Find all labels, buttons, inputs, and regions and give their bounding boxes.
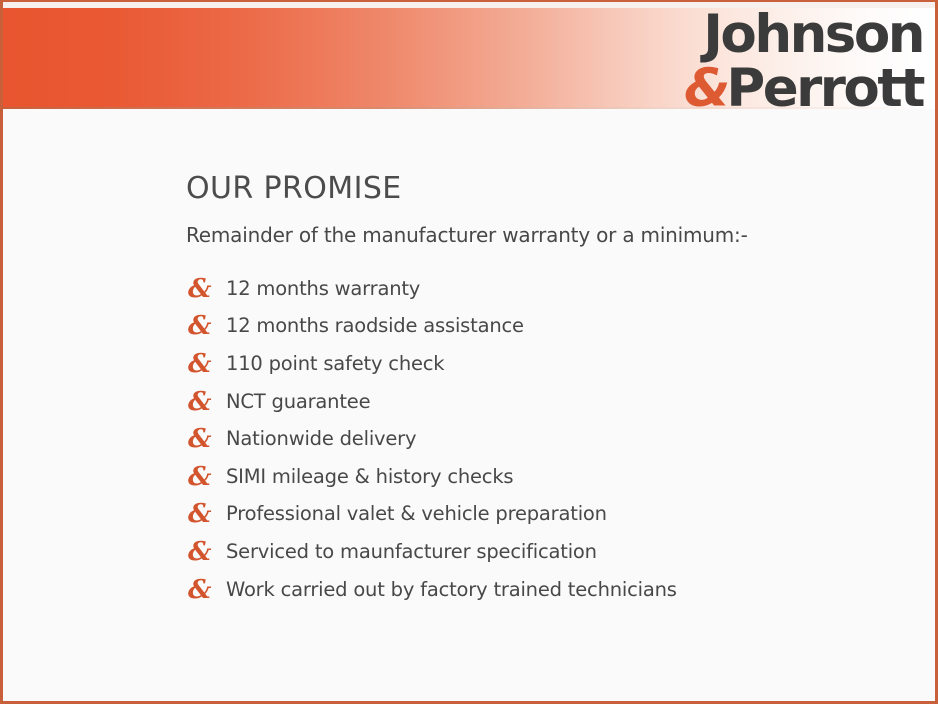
ampersand-icon: &	[186, 276, 226, 302]
list-item-label: Serviced to maunfacturer specification	[226, 540, 597, 564]
ampersand-icon: &	[186, 501, 226, 527]
johnson-and-perrott-logo[interactable]: Johnson &Perrott	[684, 8, 923, 115]
ampersand-icon: &	[186, 539, 226, 565]
list-item: & Work carried out by factory trained te…	[186, 571, 886, 609]
logo-ampersand-icon: &	[684, 58, 726, 119]
promise-content: OUR PROMISE Remainder of the manufacture…	[186, 172, 886, 608]
list-item-label: Professional valet & vehicle preparation	[226, 502, 607, 526]
promise-subtitle: Remainder of the manufacturer warranty o…	[186, 222, 886, 248]
ampersand-icon: &	[186, 389, 226, 415]
list-item: & NCT guarantee	[186, 383, 886, 421]
list-item: & 12 months raodside assistance	[186, 308, 886, 346]
list-item-label: Nationwide delivery	[226, 427, 416, 451]
list-item: & 110 point safety check	[186, 345, 886, 383]
promise-list: & 12 months warranty & 12 months raodsid…	[186, 270, 886, 608]
logo-line-perrott: &Perrott	[684, 62, 923, 115]
ampersand-icon: &	[186, 313, 226, 339]
ampersand-icon: &	[186, 351, 226, 377]
ampersand-icon: &	[186, 577, 226, 603]
logo-line-johnson: Johnson	[684, 8, 923, 61]
list-item-label: 12 months raodside assistance	[226, 314, 524, 338]
list-item: & 12 months warranty	[186, 270, 886, 308]
list-item: & Serviced to maunfacturer specification	[186, 533, 886, 571]
list-item: & SIMI mileage & history checks	[186, 458, 886, 496]
page-header: Johnson &Perrott	[3, 2, 935, 114]
list-item-label: 110 point safety check	[226, 352, 444, 376]
list-item-label: 12 months warranty	[226, 277, 420, 301]
list-item-label: NCT guarantee	[226, 390, 370, 414]
list-item: & Nationwide delivery	[186, 420, 886, 458]
promise-page: Johnson &Perrott OUR PROMISE Remainder o…	[0, 0, 938, 704]
list-item: & Professional valet & vehicle preparati…	[186, 496, 886, 534]
page-title: OUR PROMISE	[186, 172, 886, 206]
logo-perrott-text: Perrott	[726, 58, 923, 119]
list-item-label: Work carried out by factory trained tech…	[226, 578, 677, 602]
ampersand-icon: &	[186, 464, 226, 490]
list-item-label: SIMI mileage & history checks	[226, 465, 513, 489]
ampersand-icon: &	[186, 426, 226, 452]
